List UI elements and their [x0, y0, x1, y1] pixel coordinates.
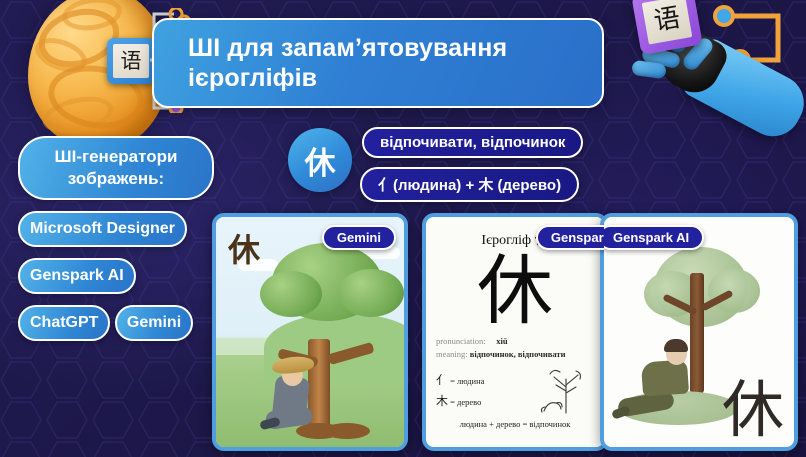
hanzi-components-badge: 亻(людина) + 木 (дерево): [360, 167, 579, 202]
brain-chip-glyph: 语: [113, 44, 149, 78]
radical-meaning: = дерево: [450, 397, 481, 407]
radical-meaning: = людина: [450, 376, 484, 386]
tree-canopy: [260, 271, 322, 317]
meaning-value: відпочинок, відпочивати: [470, 349, 566, 359]
slide-canvas: 语 ШІ для запам’ятовування ієрогліфів 语: [0, 0, 806, 457]
tree-canopy: [708, 269, 760, 313]
card-gemini[interactable]: 休 Gemini: [212, 213, 408, 451]
sidebar-item-chatgpt[interactable]: ChatGPT: [18, 305, 110, 341]
tree-trunk: [690, 273, 704, 393]
robot-hand-illustration: 语: [632, 0, 806, 203]
gemini-illustration: 休: [216, 217, 404, 447]
tree-canopy: [338, 269, 404, 317]
radical-glyph: 亻: [436, 373, 448, 387]
card-badge-genspark[interactable]: Genspark AI: [536, 225, 608, 250]
pronunciation-label: pronunciation:: [436, 336, 486, 346]
hanzi-circle-badge: 休: [288, 128, 352, 192]
card-badge-genspark-2[interactable]: Genspark AI: [600, 225, 704, 250]
card-genspark-infosheet[interactable]: Ієрогліф 休 休 pronunciation: xiū meaning:…: [422, 213, 608, 451]
title-banner: ШІ для запам’ятовування ієрогліфів: [152, 18, 604, 108]
hand-chip-glyph: 语: [642, 0, 693, 45]
tree-person-sketch: [536, 365, 590, 415]
card-badge-gemini[interactable]: Gemini: [322, 225, 396, 250]
genspark-sheet: Ієрогліф 休 休 pronunciation: xiū meaning:…: [426, 217, 604, 447]
ai-generators-list: ШІ-генератори зображень: Microsoft Desig…: [18, 136, 214, 352]
watercolor-illustration: 休: [604, 217, 794, 447]
tree-root: [324, 423, 370, 439]
sidebar-item-microsoft-designer[interactable]: Microsoft Designer: [18, 211, 187, 247]
straw-hat: [271, 355, 314, 375]
meaning-label: meaning:: [436, 349, 468, 359]
resting-person: [264, 357, 316, 433]
pronunciation-value: xiū: [496, 336, 507, 346]
sheet-radical-breakdown: 亻 = людина 木 = дерево: [436, 371, 594, 409]
sheet-big-glyph: 休: [436, 253, 594, 329]
sheet-meaning-row: meaning: відпочинок, відпочивати: [436, 348, 594, 361]
radical-glyph: 木: [436, 394, 448, 408]
sidebar-item-genspark-ai[interactable]: Genspark AI: [18, 258, 136, 294]
ai-generators-heading: ШІ-генератори зображень:: [18, 136, 214, 200]
sheet-equation: людина + дерево = відпочинок: [436, 419, 594, 429]
card-corner-glyph: 休: [722, 379, 784, 441]
sidebar-item-gemini[interactable]: Gemini: [115, 305, 193, 341]
sheet-pronunciation-row: pronunciation: xiū: [436, 335, 594, 348]
person-hair: [664, 339, 688, 352]
card-corner-glyph: 休: [228, 225, 260, 271]
person-body: [641, 359, 689, 396]
page-title: ШІ для запам’ятовування ієрогліфів: [188, 33, 584, 94]
hanzi-meaning-badge: відпочивати, відпочинок: [362, 127, 583, 158]
card-genspark-watercolor[interactable]: 休 Genspark AI: [600, 213, 798, 451]
